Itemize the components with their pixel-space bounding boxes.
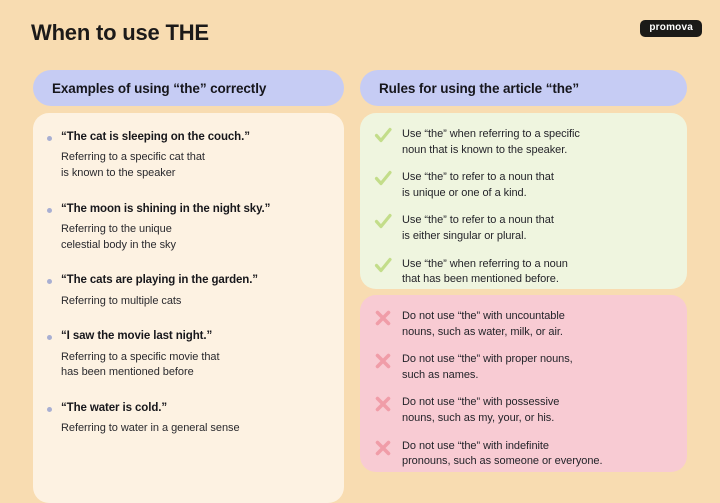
- list-item: Use “the” when referring to a noun that …: [373, 257, 673, 288]
- list-item: Do not use “the” with proper nouns, such…: [373, 352, 673, 383]
- example-quote: “The water is cold.”: [61, 401, 328, 415]
- check-icon: [373, 126, 393, 146]
- rule-text: Do not use “the” with uncountable nouns,…: [402, 309, 673, 340]
- list-item: “The water is cold.” Referring to water …: [47, 401, 328, 437]
- page-title: When to use THE: [31, 20, 209, 46]
- example-note: Referring to a specific cat that is know…: [61, 150, 328, 181]
- example-note: Referring to a specific movie that has b…: [61, 350, 328, 381]
- example-quote: “The moon is shining in the night sky.”: [61, 202, 328, 216]
- examples-heading-pill: Examples of using “the” correctly: [33, 70, 344, 106]
- rule-text: Use “the” when referring to a specific n…: [402, 127, 673, 158]
- list-item: “I saw the movie last night.” Referring …: [47, 329, 328, 381]
- dot-icon: [47, 136, 52, 141]
- example-note: Referring to water in a general sense: [61, 421, 328, 437]
- list-item: Use “the” to refer to a noun that is eit…: [373, 213, 673, 244]
- rules-heading-label: Rules for using the article “the”: [379, 81, 579, 96]
- dont-rules-card: Do not use “the” with uncountable nouns,…: [360, 295, 687, 472]
- example-note: Referring to the unique celestial body i…: [61, 222, 328, 253]
- cross-icon: [373, 308, 393, 328]
- cross-icon: [373, 351, 393, 371]
- example-quote: “The cat is sleeping on the couch.”: [61, 130, 328, 144]
- cross-icon: [373, 438, 393, 458]
- example-quote: “The cats are playing in the garden.”: [61, 273, 328, 287]
- check-icon: [373, 212, 393, 232]
- list-item: “The cats are playing in the garden.” Re…: [47, 273, 328, 309]
- list-item: Do not use “the” with indefinite pronoun…: [373, 439, 673, 470]
- cross-icon: [373, 394, 393, 414]
- list-item: Do not use “the” with possessive nouns, …: [373, 395, 673, 426]
- list-item: Use “the” to refer to a noun that is uni…: [373, 170, 673, 201]
- rules-heading-pill: Rules for using the article “the”: [360, 70, 687, 106]
- rule-text: Do not use “the” with indefinite pronoun…: [402, 439, 673, 470]
- list-item: “The cat is sleeping on the couch.” Refe…: [47, 130, 328, 182]
- infographic-poster: When to use THE promova Examples of usin…: [0, 0, 720, 480]
- dot-icon: [47, 335, 52, 340]
- examples-heading-label: Examples of using “the” correctly: [52, 81, 266, 96]
- example-quote: “I saw the movie last night.”: [61, 329, 328, 343]
- rule-text: Use “the” to refer to a noun that is uni…: [402, 170, 673, 201]
- examples-column: Examples of using “the” correctly “The c…: [33, 70, 344, 503]
- example-note: Referring to multiple cats: [61, 294, 328, 310]
- rule-text: Use “the” when referring to a noun that …: [402, 257, 673, 288]
- dot-icon: [47, 279, 52, 284]
- dot-icon: [47, 208, 52, 213]
- dot-icon: [47, 407, 52, 412]
- do-rules-card: Use “the” when referring to a specific n…: [360, 113, 687, 289]
- brand-logo: promova: [640, 20, 702, 37]
- list-item: Do not use “the” with uncountable nouns,…: [373, 309, 673, 340]
- rule-text: Do not use “the” with proper nouns, such…: [402, 352, 673, 383]
- check-icon: [373, 169, 393, 189]
- rule-text: Do not use “the” with possessive nouns, …: [402, 395, 673, 426]
- examples-card: “The cat is sleeping on the couch.” Refe…: [33, 113, 344, 503]
- list-item: “The moon is shining in the night sky.” …: [47, 202, 328, 254]
- check-icon: [373, 256, 393, 276]
- rules-column: Rules for using the article “the” Use “t…: [360, 70, 687, 472]
- list-item: Use “the” when referring to a specific n…: [373, 127, 673, 158]
- rule-text: Use “the” to refer to a noun that is eit…: [402, 213, 673, 244]
